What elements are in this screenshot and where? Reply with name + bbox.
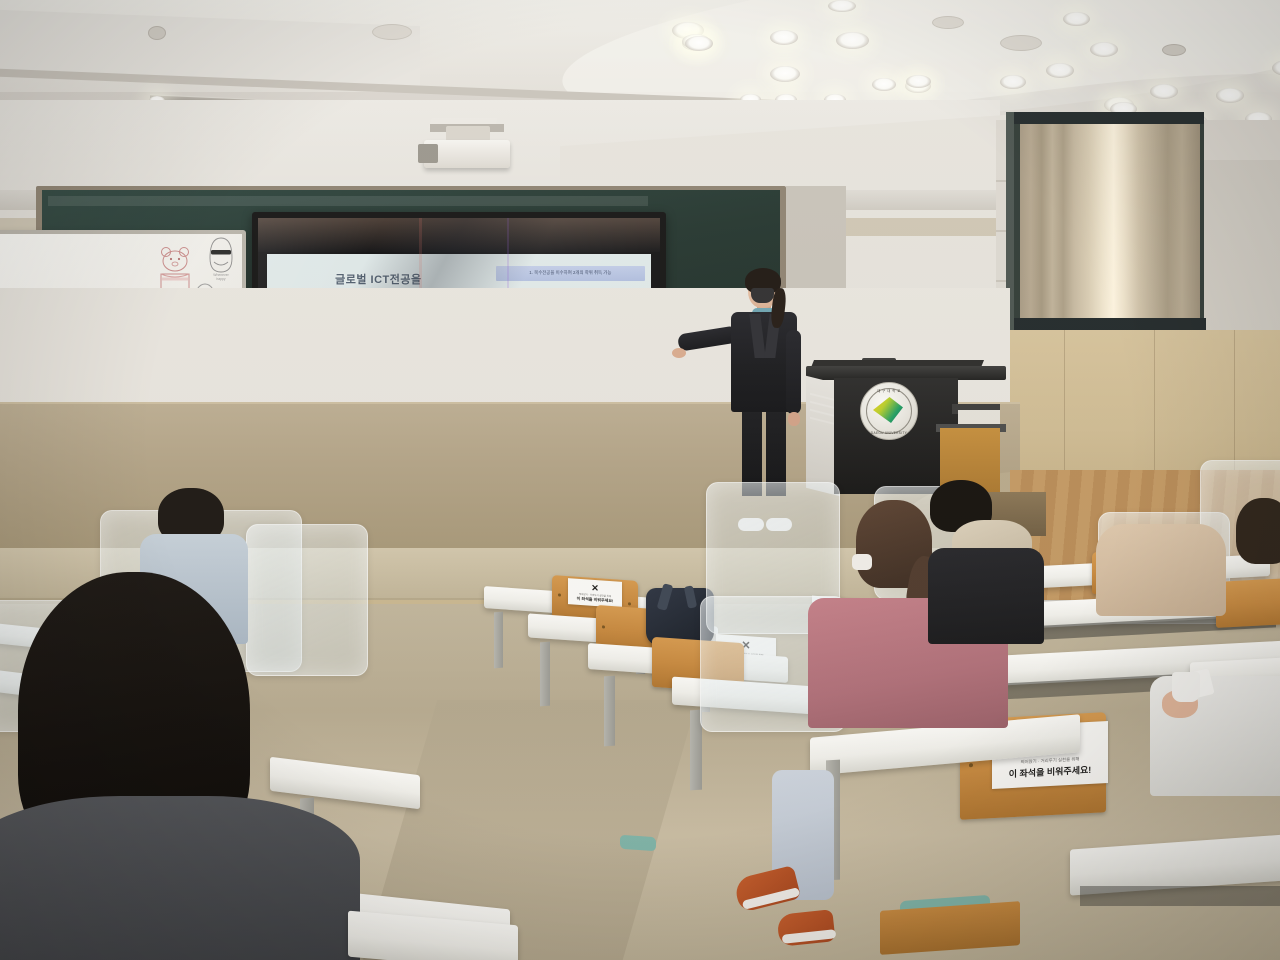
- desk-shadow: [1080, 886, 1280, 906]
- podium-vent: [810, 417, 836, 425]
- downlight-icon: [872, 78, 896, 91]
- student-beige-hoodie-body: [928, 548, 1044, 644]
- svg-text:happy: happy: [216, 277, 226, 281]
- projector-lens-icon: [418, 144, 438, 163]
- downlight-icon: [1063, 12, 1090, 26]
- downlight-icon: [1000, 75, 1026, 89]
- backpack-strap: [657, 583, 674, 611]
- student-pink-sweater-mask: [852, 554, 872, 570]
- student-far-right-hair: [1236, 498, 1280, 564]
- desk-leg: [540, 642, 550, 707]
- ceiling-speaker-icon: [1162, 44, 1186, 56]
- downlight-icon: [828, 0, 856, 12]
- podium-vent: [810, 409, 836, 417]
- emblem-top-text: 대 구 대 학 교: [861, 388, 917, 393]
- desk-leg: [604, 676, 615, 747]
- lecture-hall-photo: 글로벌 ICT전공을 선택한 이유와 장점 논거 1. 복수전공을 이수하여 2…: [0, 0, 1280, 960]
- ceiling-vent-icon: [1000, 35, 1042, 51]
- downlight-icon: [1090, 42, 1118, 57]
- chair-screw: [969, 763, 973, 767]
- chalkboard-highlight: [48, 196, 648, 206]
- curtain-rail: [1014, 112, 1204, 124]
- downlight-icon: [770, 66, 800, 82]
- chair-seat-cushion: [620, 835, 656, 852]
- podium-vent: [810, 401, 836, 409]
- university-emblem: 대 구 대 학 교 DAEGU UNIVERSITY: [860, 382, 918, 440]
- downlight-icon: [836, 32, 869, 49]
- sign-main-text: 이 좌석을 비워주세요!: [577, 595, 614, 604]
- window-curtain: [1020, 116, 1200, 328]
- desk-leg: [494, 612, 503, 669]
- ceiling-vent-icon: [372, 24, 412, 40]
- downlight-icon: [1150, 84, 1178, 99]
- downlight-icon: [1046, 63, 1074, 78]
- chair-screw: [558, 593, 561, 596]
- chair-screw: [602, 625, 605, 628]
- presenter-hand: [672, 348, 686, 358]
- student-far-right-body: [1096, 524, 1226, 616]
- downlight-icon: [1216, 88, 1244, 103]
- chair-screw: [628, 602, 631, 605]
- presenter-face-mask: [751, 288, 774, 303]
- downlight-icon: [685, 36, 713, 51]
- student-grey-hoodie-body: [0, 796, 360, 960]
- presenter-hand: [788, 412, 800, 426]
- podium-vent: [810, 393, 836, 401]
- acrylic-divider: [246, 524, 368, 676]
- downlight-icon: [770, 30, 798, 45]
- ceiling-speaker-icon: [148, 26, 166, 40]
- downlight-icon: [906, 75, 931, 88]
- seat-closed-sign: ✕ 띄어앉기 · 거리두기 실천을 위해 이 좌석을 비워주세요!: [568, 578, 622, 608]
- projector-arm: [446, 126, 490, 141]
- presenter-left-arm: [786, 330, 801, 414]
- white-cup: [1172, 672, 1200, 702]
- ceiling-vent-icon: [932, 16, 964, 29]
- emblem-bottom-text: DAEGU UNIVERSITY: [861, 431, 917, 435]
- backpack-strap: [684, 585, 697, 608]
- face-doodle-icon: Whenever happy: [204, 236, 238, 282]
